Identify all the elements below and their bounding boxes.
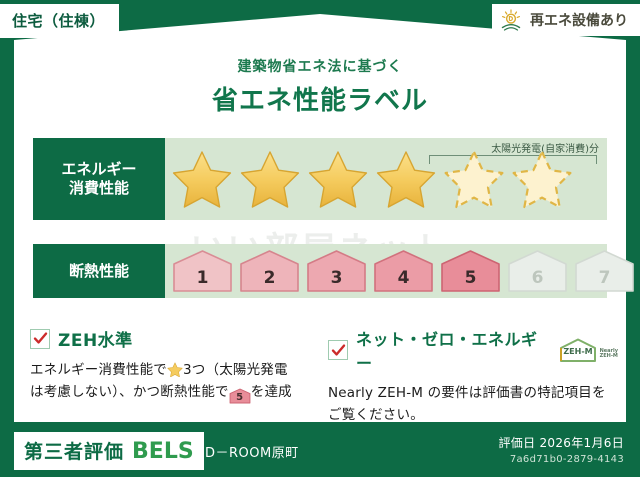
zeh-m-sub-line2: ZEH-M (600, 353, 618, 359)
star-solar (511, 149, 573, 209)
svg-text:ZEH-M: ZEH-M (563, 347, 592, 356)
evaluation-meta: 評価日 2026年1月6日 7a6d71b0-2879-4143 (498, 434, 624, 465)
insulation-badge-inactive: 7 (573, 249, 636, 293)
netzero-checkbox[interactable] (328, 340, 348, 360)
star-filled (239, 149, 301, 209)
title-subtitle: 建築物省エネ法に基づく (0, 56, 640, 76)
netzero-criteria-body: Nearly ZEH-M の要件は評価書の特記項目をご覧ください。 (328, 383, 618, 427)
energy-rating-area: 太陽光発電(自家消費)分 (165, 138, 607, 220)
zeh-body-star-text: 3つ（太陽光発電 (183, 362, 288, 378)
star-rating (171, 149, 573, 209)
zeh-criteria-block: ZEH水準 エネルギー消費性能で3つ（太陽光発電 は考慮しない）、かつ断熱性能で… (30, 326, 318, 404)
check-icon (331, 343, 346, 358)
zeh-checkbox[interactable] (30, 329, 50, 349)
zeh-criteria-body: エネルギー消費性能で3つ（太陽光発電 は考慮しない）、かつ断熱性能で5を達成 (30, 360, 318, 404)
energy-key-line2: 消費性能 (69, 179, 129, 198)
bels-en-label: BELS (132, 439, 194, 464)
star-filled (171, 149, 233, 209)
insulation-label-key: 断熱性能 (33, 244, 165, 298)
zeh-body-part2: は考慮しない）、かつ断熱性能で (30, 384, 229, 400)
check-icon (33, 331, 48, 346)
insulation-badge-value: 2 (264, 268, 276, 288)
zeh-m-house-icon: ZEH-M (558, 337, 598, 363)
evaluation-id: 7a6d71b0-2879-4143 (498, 454, 624, 465)
zeh-criteria-title: ZEH水準 (58, 326, 133, 351)
zeh-m-logo: ZEH-M Nearly ZEH-M (558, 337, 618, 363)
zeh-body-part1: エネルギー消費性能で (30, 362, 167, 378)
energy-key-line1: エネルギー (61, 160, 136, 179)
netzero-criteria-block: ネット・ゼロ・エネルギー ZEH-M Nearly ZEH-M Nearly Z… (328, 326, 618, 427)
insulation-performance-row: 断熱性能 1 2 3 4 (33, 244, 607, 298)
renewable-tag-label: 再エネ設備あり (530, 10, 628, 30)
insulation-badge-value: 7 (599, 268, 611, 288)
insulation-badge: 5 (439, 249, 502, 293)
energy-performance-row: エネルギー 消費性能 太陽光発電(自家消費)分 (33, 138, 607, 220)
renewable-equipment-tag: 再エネ設備あり (492, 4, 640, 36)
insulation-badge-value: 6 (532, 268, 544, 288)
insulation-level-badges: 1 2 3 4 5 (171, 249, 636, 293)
zeh-body-part3: を達成 (251, 384, 292, 400)
insulation-badge: 1 (171, 249, 234, 293)
zeh-m-logo-subtext: Nearly ZEH-M (600, 349, 618, 364)
bels-jp-label: 第三者評価 (24, 437, 124, 464)
label-title-block: 建築物省エネ法に基づく 省エネ性能ラベル (0, 56, 640, 117)
inline-star-icon (167, 362, 183, 378)
building-name: D－ROOM原町 (205, 442, 299, 461)
housing-type-tag: 住宅（住棟） (0, 4, 119, 38)
insulation-badge-value: 1 (197, 268, 209, 288)
energy-performance-label: 住宅（住棟） 再エネ設備あり 建築物省エネ法に基づく 省エネ性能ラベル (0, 0, 640, 477)
evaluation-date: 評価日 2026年1月6日 (498, 434, 624, 451)
star-solar (443, 149, 505, 209)
insulation-badge-inactive: 6 (506, 249, 569, 293)
inline-badge-value: 5 (236, 392, 243, 403)
insulation-badge: 3 (305, 249, 368, 293)
netzero-criteria-title: ネット・ゼロ・エネルギー (356, 326, 545, 374)
star-filled (307, 149, 369, 209)
footer-bar: 第三者評価 BELS D－ROOM原町 評価日 2026年1月6日 7a6d71… (0, 424, 640, 477)
insulation-key-text: 断熱性能 (69, 262, 129, 281)
insulation-badge-value: 5 (465, 268, 477, 288)
sun-icon (500, 9, 524, 31)
star-filled (375, 149, 437, 209)
insulation-badge: 4 (372, 249, 435, 293)
insulation-badge: 2 (238, 249, 301, 293)
bels-certification-badge: 第三者評価 BELS (14, 432, 204, 470)
inline-insulation-badge: 5 (229, 388, 251, 404)
netzero-criteria-header: ネット・ゼロ・エネルギー ZEH-M Nearly ZEH-M (328, 326, 618, 374)
insulation-badge-value: 3 (331, 268, 343, 288)
insulation-rating-area: 1 2 3 4 5 (165, 244, 607, 298)
insulation-badge-value: 4 (398, 268, 410, 288)
energy-performance-label-key: エネルギー 消費性能 (33, 138, 165, 220)
zeh-criteria-header: ZEH水準 (30, 326, 318, 351)
page-title: 省エネ性能ラベル (0, 80, 640, 117)
